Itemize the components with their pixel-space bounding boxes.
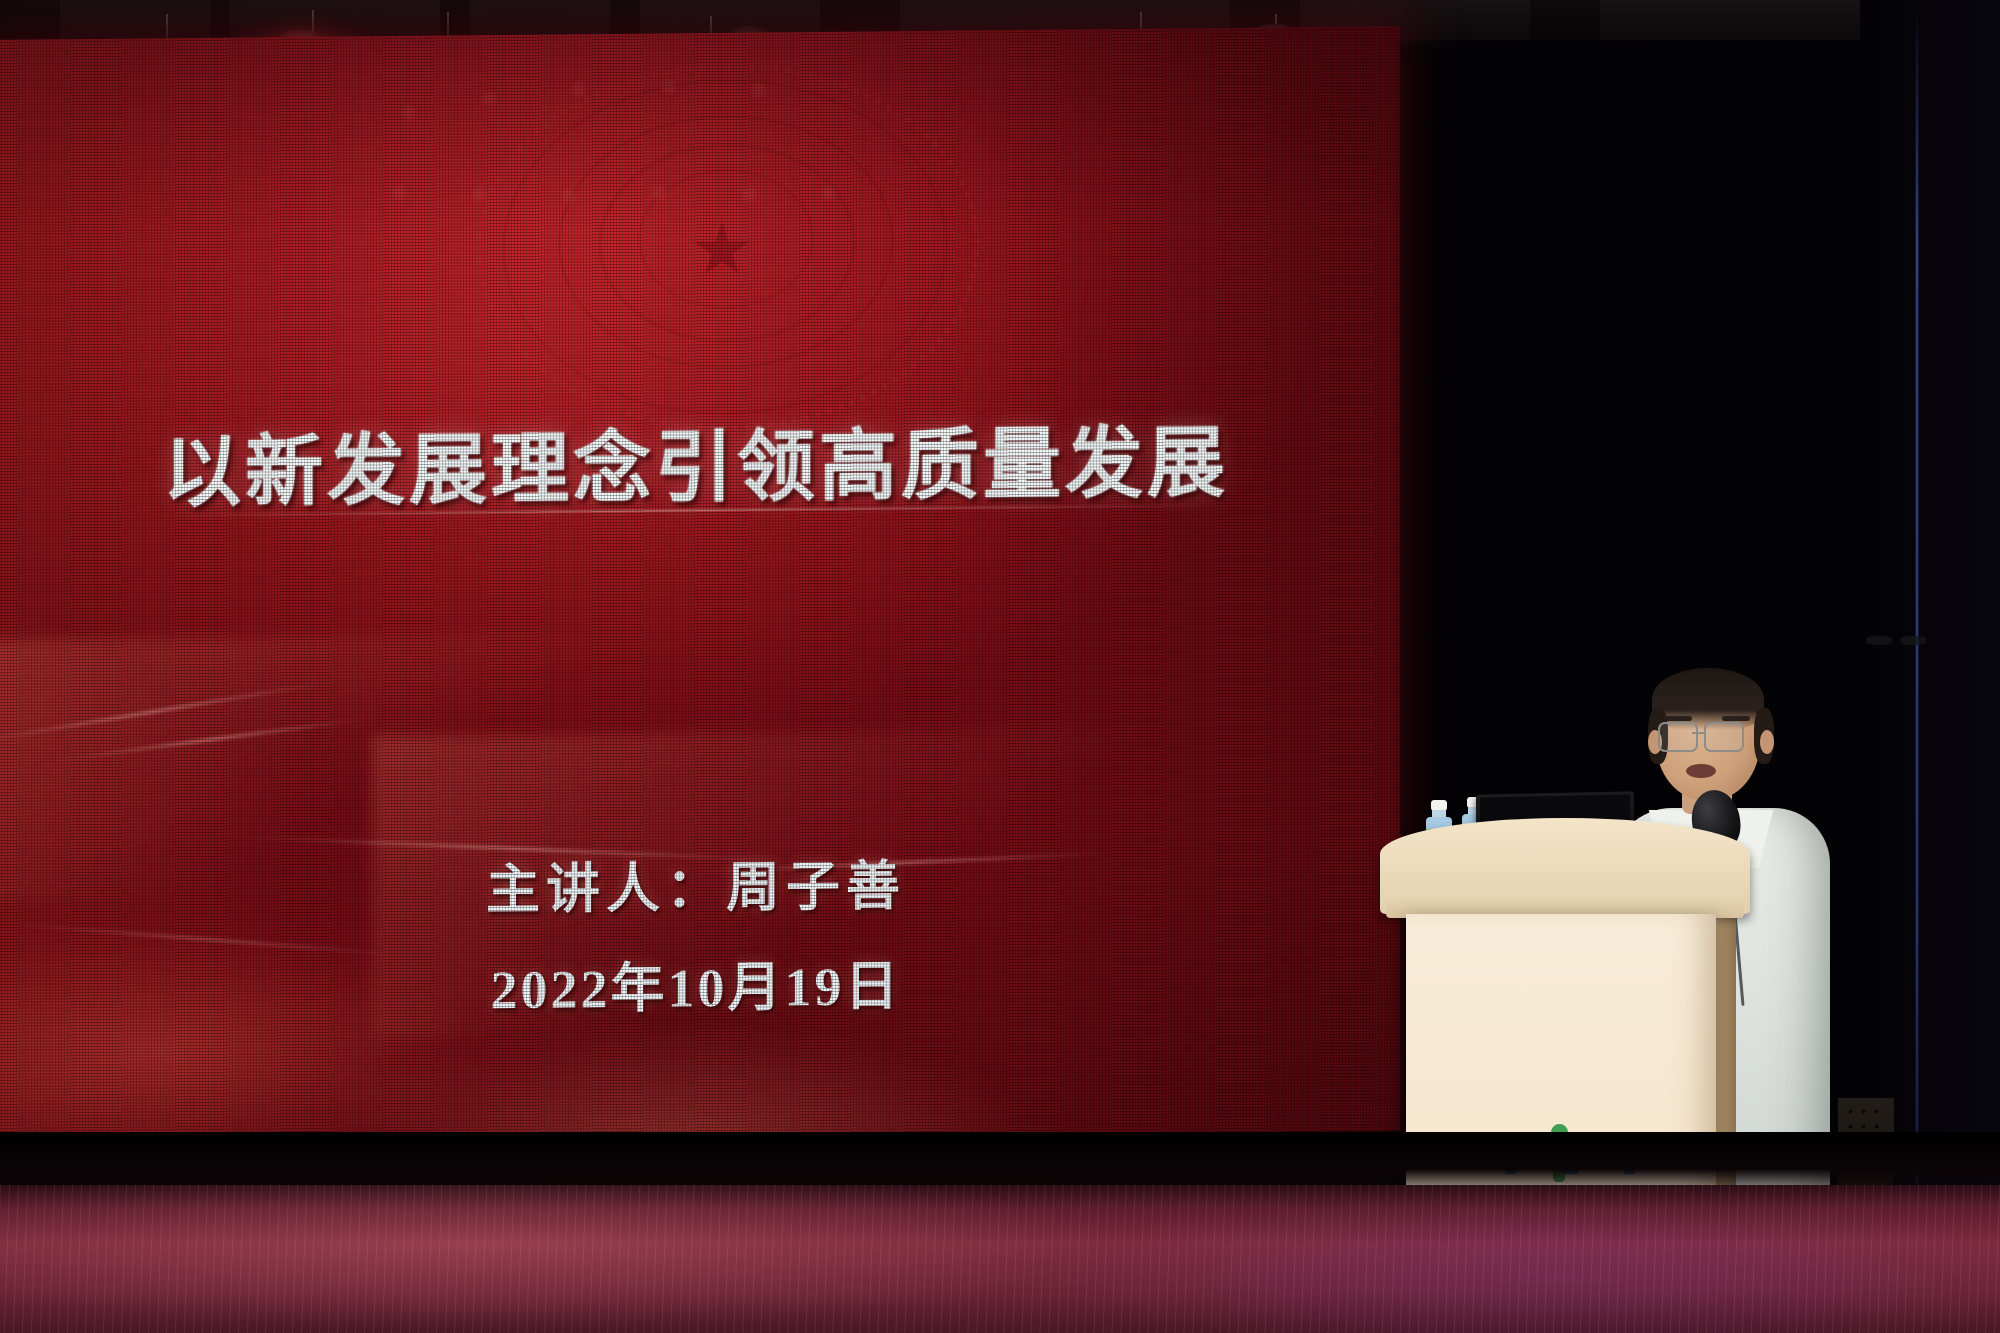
slide-date-line: 2022年10月19日 — [0, 936, 1400, 1029]
stage-floor — [0, 1185, 2000, 1333]
eyebrow — [1664, 716, 1692, 721]
glasses-lens — [1658, 722, 1698, 752]
wall-bracket — [1866, 636, 1892, 645]
wall-bracket — [1900, 636, 1926, 645]
led-screen: 以新发展理念引领高质量发展 主讲人：周子善 2022年10月19日 — [0, 26, 1400, 1144]
slide-speaker-line: 主讲人：周子善 — [0, 836, 1400, 929]
glasses-lens — [1704, 722, 1744, 752]
truss-segment — [1600, 0, 1860, 46]
mouth — [1686, 764, 1716, 778]
glasses-bridge — [1692, 732, 1704, 734]
stage-scene: 以新发展理念引领高质量发展 主讲人：周子善 2022年10月19日 — [0, 0, 2000, 1333]
eyebrow — [1722, 716, 1750, 721]
ear — [1760, 730, 1774, 754]
star-emblem — [462, 60, 982, 425]
